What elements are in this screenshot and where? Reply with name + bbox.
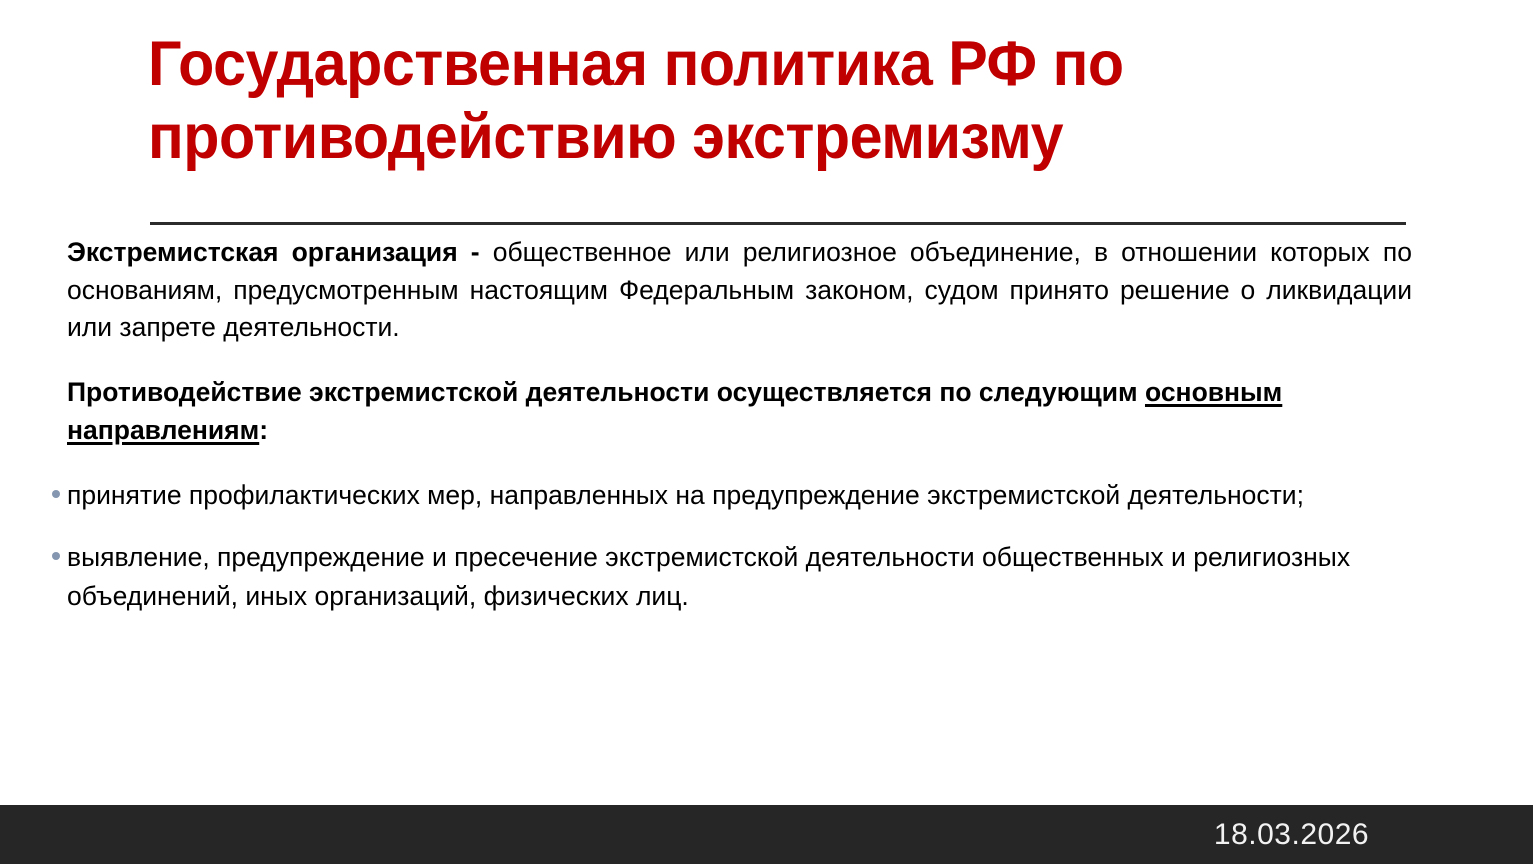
list-item: принятие профилактических мер, направлен… bbox=[52, 476, 1412, 514]
directions-heading-before: Противодействие экстремистской деятельно… bbox=[67, 377, 1145, 407]
list-item-label: принятие профилактических мер, направлен… bbox=[67, 476, 1412, 514]
footer-date: 18.03.2026 bbox=[1050, 805, 1533, 864]
list-item-label: выявление, предупреждение и пресечение э… bbox=[67, 538, 1412, 615]
bullet-dot-icon bbox=[52, 490, 60, 498]
slide: Государственная политика РФ по противоде… bbox=[0, 0, 1533, 864]
definition-paragraph: Экстремистская организация - общественно… bbox=[52, 234, 1412, 347]
directions-heading-after: : bbox=[259, 415, 268, 445]
body-content: Экстремистская организация - общественно… bbox=[52, 222, 1412, 615]
directions-heading: Противодействие экстремистской деятельно… bbox=[52, 373, 1412, 450]
page-title: Государственная политика РФ по противоде… bbox=[148, 28, 1342, 174]
title-block: Государственная политика РФ по противоде… bbox=[148, 28, 1418, 174]
list-item: выявление, предупреждение и пресечение э… bbox=[52, 538, 1412, 615]
definition-term: Экстремистская организация - bbox=[67, 237, 493, 267]
bullet-dot-icon bbox=[52, 552, 60, 560]
footer-bar: 18.03.2026 bbox=[0, 805, 1533, 864]
directions-list: принятие профилактических мер, направлен… bbox=[52, 476, 1412, 615]
divider-line bbox=[150, 222, 1406, 225]
